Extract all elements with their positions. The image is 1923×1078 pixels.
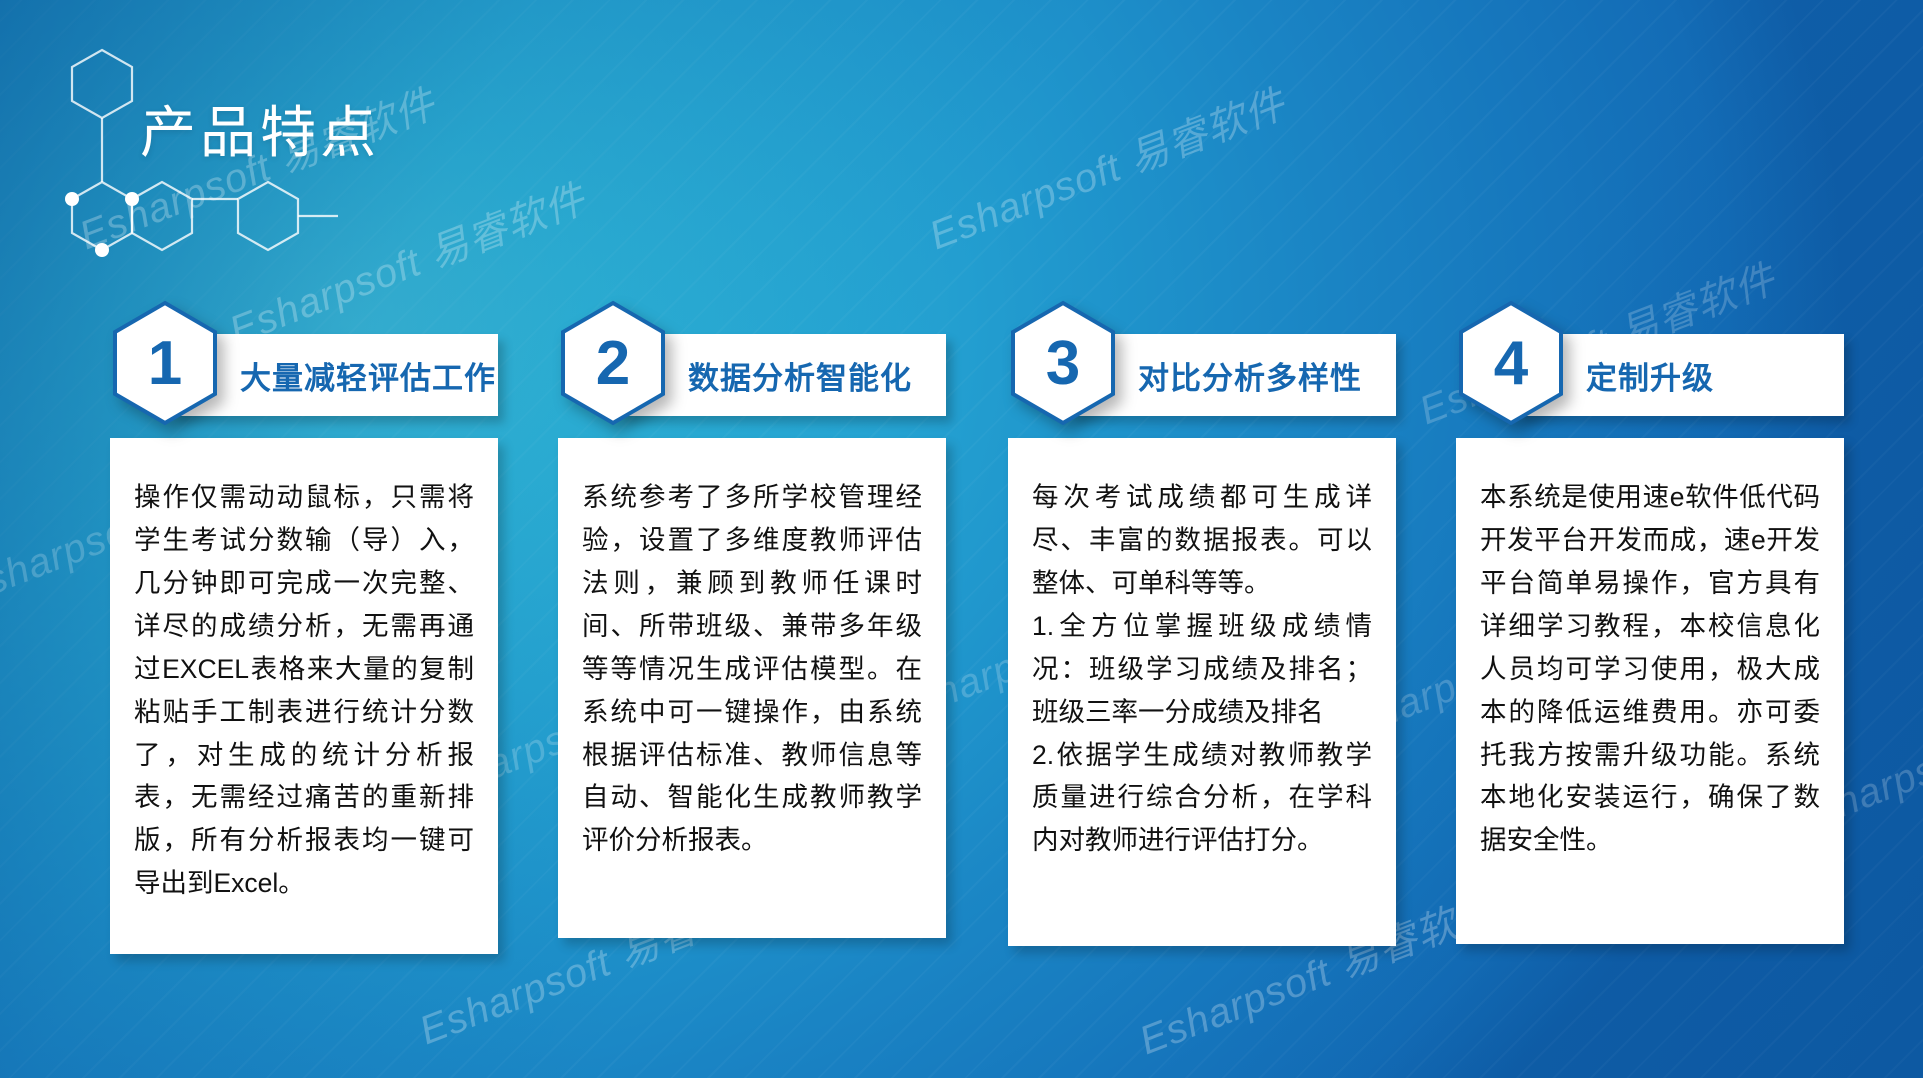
slide-canvas: 产品特点 Esharpsoft 易睿软件 Esharpsoft 易睿软件 Esh… xyxy=(0,0,1923,1078)
feature-card-1[interactable]: 1 大量减轻评估工作 操作仅需动动鼠标，只需将学生考试分数输（导）入，几分钟即可… xyxy=(110,326,498,954)
feature-card-3[interactable]: 3 对比分析多样性 每次考试成绩都可生成详尽、丰富的数据报表。可以整体、可单科等… xyxy=(1008,326,1396,946)
feature-card-4[interactable]: 4 定制升级 本系统是使用速e软件低代码开发平台开发而成，速e开发平台简单易操作… xyxy=(1456,326,1844,944)
feature-card-4-header: 4 定制升级 xyxy=(1456,326,1844,422)
feature-card-1-title: 大量减轻评估工作 xyxy=(240,334,496,416)
feature-card-4-body: 本系统是使用速e软件低代码开发平台开发而成，速e开发平台简单易操作，官方具有详细… xyxy=(1456,438,1844,944)
hexagon-badge-icon xyxy=(110,300,220,426)
feature-card-3-text: 每次考试成绩都可生成详尽、丰富的数据报表。可以整体、可单科等等。 1.全方位掌握… xyxy=(1032,476,1372,862)
feature-card-3-header: 3 对比分析多样性 xyxy=(1008,326,1396,422)
feature-card-2-title: 数据分析智能化 xyxy=(688,334,912,416)
feature-card-1-body: 操作仅需动动鼠标，只需将学生考试分数输（导）入，几分钟即可完成一次完整、详尽的成… xyxy=(110,438,498,954)
feature-card-2-header: 2 数据分析智能化 xyxy=(558,326,946,422)
feature-card-3-title: 对比分析多样性 xyxy=(1138,334,1362,416)
hexagon-badge-icon xyxy=(1456,300,1566,426)
feature-card-2-body: 系统参考了多所学校管理经验，设置了多维度教师评估法则，兼顾到教师任课时间、所带班… xyxy=(558,438,946,938)
feature-card-4-text: 本系统是使用速e软件低代码开发平台开发而成，速e开发平台简单易操作，官方具有详细… xyxy=(1480,476,1820,862)
feature-card-2-text: 系统参考了多所学校管理经验，设置了多维度教师评估法则，兼顾到教师任课时间、所带班… xyxy=(582,476,922,862)
hexagon-badge-icon xyxy=(1008,300,1118,426)
feature-cards-group: 1 大量减轻评估工作 操作仅需动动鼠标，只需将学生考试分数输（导）入，几分钟即可… xyxy=(0,0,1923,1078)
feature-card-3-body: 每次考试成绩都可生成详尽、丰富的数据报表。可以整体、可单科等等。 1.全方位掌握… xyxy=(1008,438,1396,946)
feature-card-2[interactable]: 2 数据分析智能化 系统参考了多所学校管理经验，设置了多维度教师评估法则，兼顾到… xyxy=(558,326,946,938)
feature-card-1-text: 操作仅需动动鼠标，只需将学生考试分数输（导）入，几分钟即可完成一次完整、详尽的成… xyxy=(134,476,474,905)
hexagon-badge-icon xyxy=(558,300,668,426)
feature-card-1-header: 1 大量减轻评估工作 xyxy=(110,326,498,422)
feature-card-4-title: 定制升级 xyxy=(1586,334,1714,416)
